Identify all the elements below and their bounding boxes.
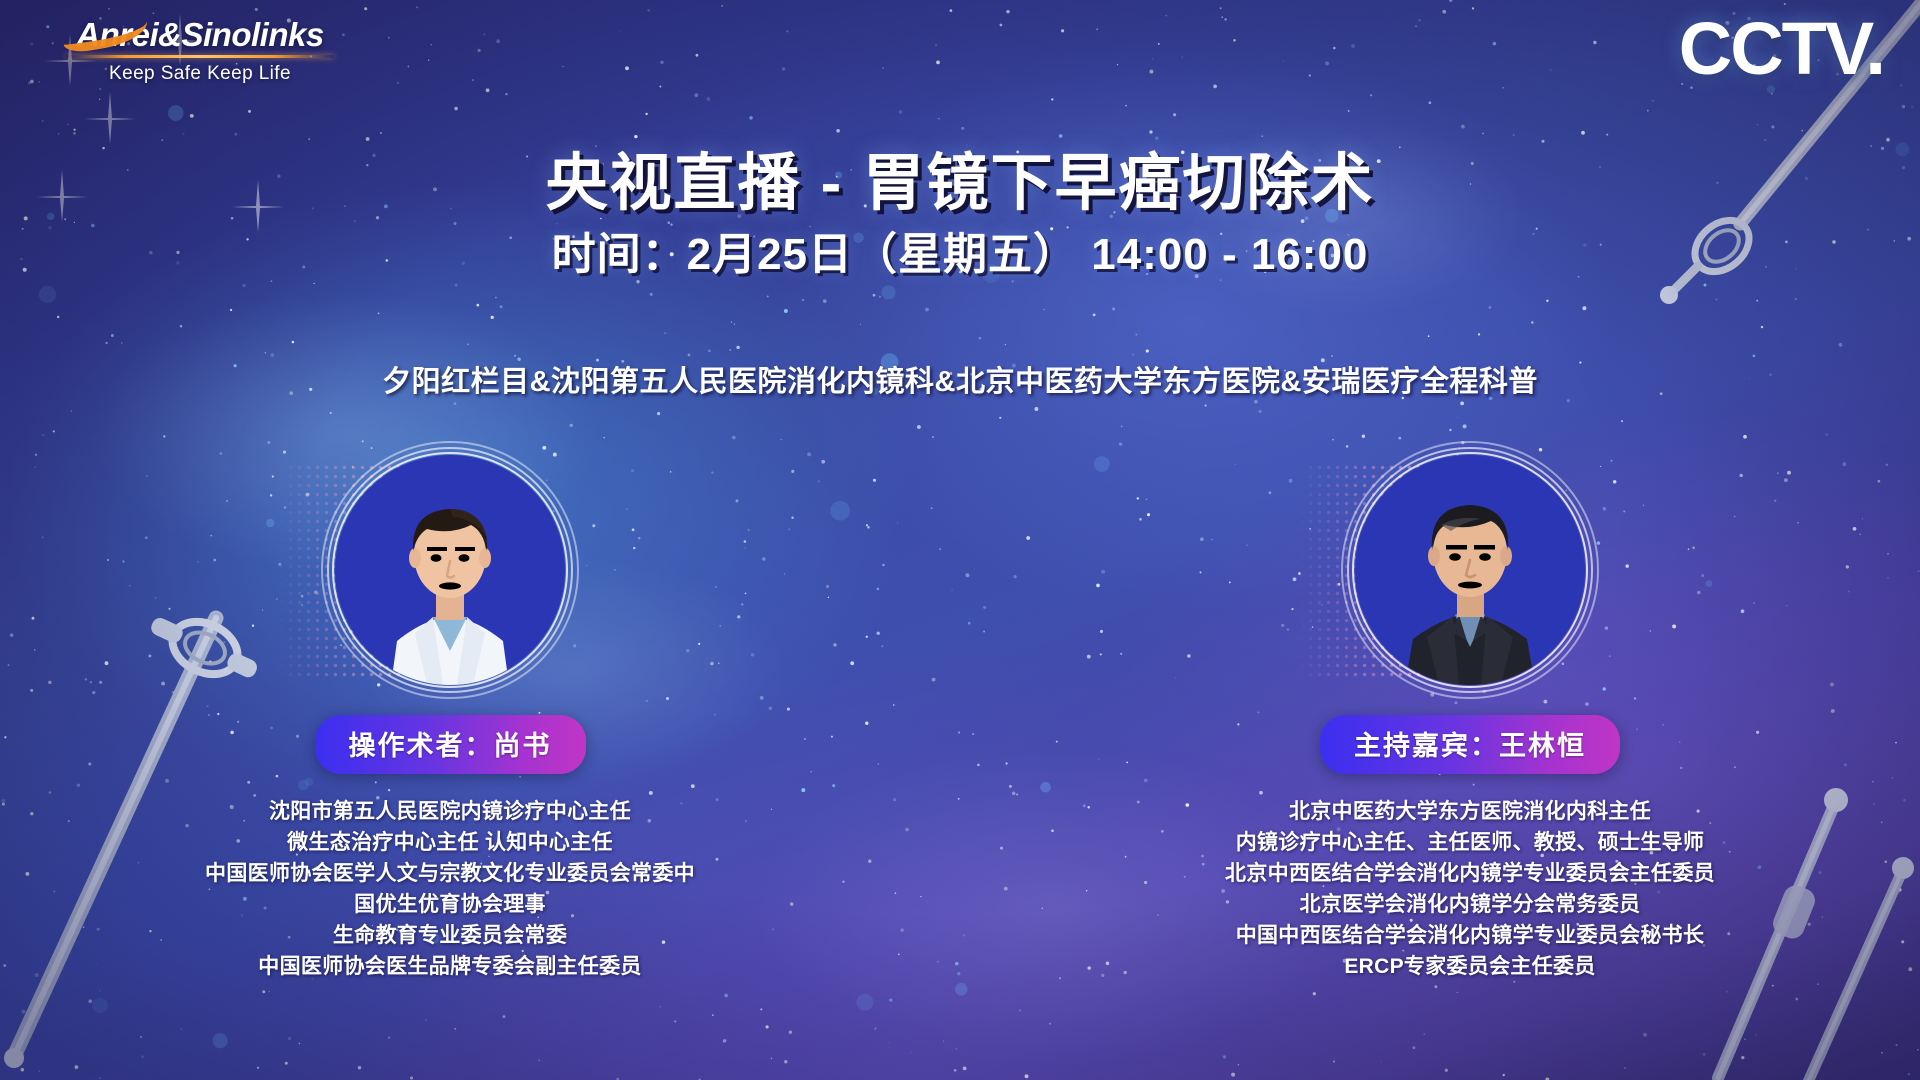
credential-line: 北京中西医结合学会消化内镜学专业委员会主任委员 xyxy=(1190,858,1750,889)
credential-line: 中国中西医结合学会消化内镜学专业委员会秘书长 xyxy=(1190,920,1750,951)
organizations-line: 夕阳红栏目&沈阳第五人民医院消化内镜科&北京中医药大学东方医院&安瑞医疗全程科普 xyxy=(0,358,1920,400)
brand-divider xyxy=(66,55,334,58)
credential-line: 北京中医药大学东方医院消化内科主任 xyxy=(1190,796,1750,827)
credential-line: 生命教育专业委员会常委 xyxy=(170,920,730,951)
event-time: 时间：2月25日（星期五） 14:00 - 16:00 xyxy=(0,218,1920,282)
portrait-illustration-operator xyxy=(335,455,565,685)
page-title: 央视直播 - 胃镜下早癌切除术 xyxy=(0,132,1920,222)
credentials-operator: 沈阳市第五人民医院内镜诊疗中心主任 微生态治疗中心主任 认知中心主任 中国医师协… xyxy=(170,796,730,982)
portrait-illustration-host xyxy=(1355,455,1585,685)
portrait-disc xyxy=(1355,455,1585,685)
credential-line: 北京医学会消化内镜学分会常务委员 xyxy=(1190,889,1750,920)
portrait-operator xyxy=(335,455,565,685)
portrait-disc xyxy=(335,455,565,685)
credentials-host: 北京中医药大学东方医院消化内科主任 内镜诊疗中心主任、主任医师、教授、硕士生导师… xyxy=(1190,796,1750,982)
role-badge-host: 主持嘉宾：王林恒 xyxy=(1320,715,1620,774)
credential-line: 中国医师协会医生品牌专委会副主任委员 xyxy=(170,951,730,982)
cctv-logo: CCTV. xyxy=(1679,12,1884,86)
credential-line: 中国医师协会医学人文与宗教文化专业委员会常委中 xyxy=(170,858,730,889)
credential-line: 微生态治疗中心主任 认知中心主任 xyxy=(170,827,730,858)
credential-line: 国优生优育协会理事 xyxy=(170,889,730,920)
person-card-host: 主持嘉宾：王林恒 北京中医药大学东方医院消化内科主任 内镜诊疗中心主任、主任医师… xyxy=(1190,455,1750,982)
person-card-operator: 操作术者：尚书 沈阳市第五人民医院内镜诊疗中心主任 微生态治疗中心主任 认知中心… xyxy=(170,455,730,982)
credential-line: 内镜诊疗中心主任、主任医师、教授、硕士生导师 xyxy=(1190,827,1750,858)
portrait-host xyxy=(1355,455,1585,685)
role-badge-operator: 操作术者：尚书 xyxy=(315,715,586,774)
brand-logo: Anrei&Sinolinks Keep Safe Keep Life xyxy=(60,18,340,85)
credential-line: ERCP专家委员会主任委员 xyxy=(1190,951,1750,982)
poster-canvas: Anrei&Sinolinks Keep Safe Keep Life CCTV… xyxy=(0,0,1920,1080)
brand-tagline: Keep Safe Keep Life xyxy=(60,63,340,85)
credential-line: 沈阳市第五人民医院内镜诊疗中心主任 xyxy=(170,796,730,827)
